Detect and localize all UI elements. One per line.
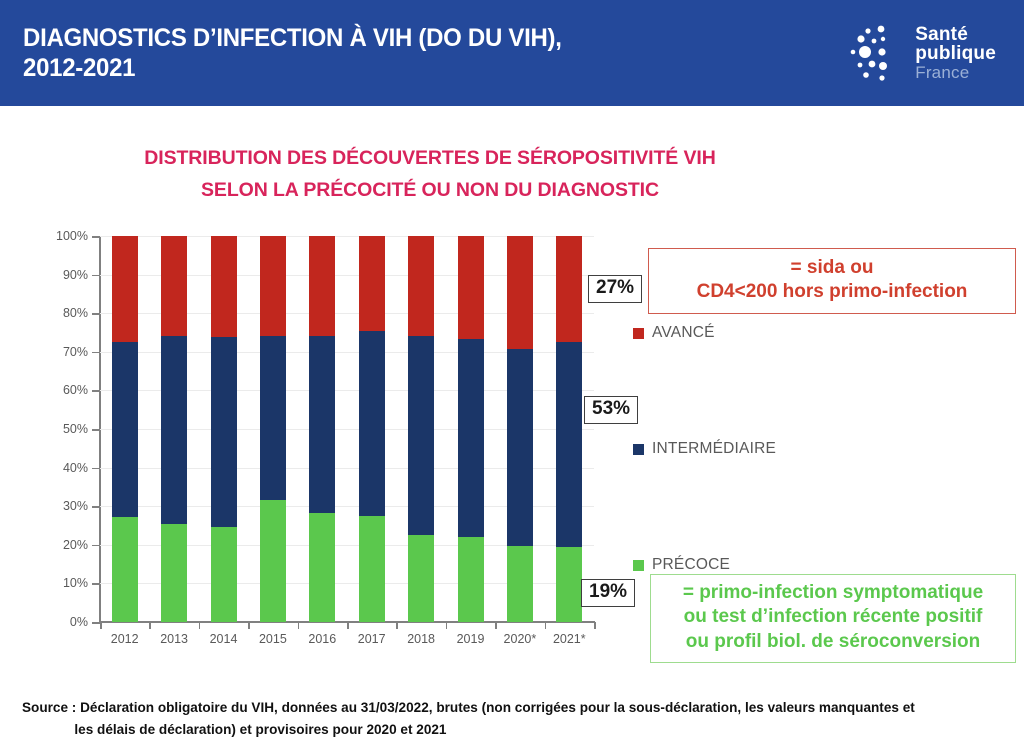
legend-swatch-precoce-icon	[633, 560, 644, 571]
callout-precoce: 19%	[581, 579, 635, 607]
y-axis-tick	[92, 352, 100, 354]
slide-root: DIAGNOSTICS D’INFECTION À VIH (DO DU VIH…	[0, 0, 1024, 754]
x-axis-tick	[248, 622, 250, 629]
bar-segment-precoce	[408, 535, 434, 622]
legend-label-intermediaire: INTERMÉDIAIRE	[652, 440, 776, 458]
bar-segment-interm	[408, 336, 434, 535]
stacked-bar	[408, 236, 434, 622]
bar-segment-avance	[112, 236, 138, 342]
stacked-bar	[507, 236, 533, 622]
y-axis-tick-label: 50%	[38, 422, 88, 436]
annotation-precoce-line-2: ou test d’infection récente positif	[657, 605, 1009, 629]
y-axis-tick	[92, 429, 100, 431]
x-axis-tick	[495, 622, 497, 629]
source-note: Source : Déclaration obligatoire du VIH,…	[22, 697, 982, 740]
x-axis-tick	[446, 622, 448, 629]
x-axis-tick	[396, 622, 398, 629]
y-axis-tick-label: 20%	[38, 538, 88, 552]
legend-swatch-intermediaire-icon	[633, 444, 644, 455]
bar-segment-interm	[458, 339, 484, 537]
y-axis-tick	[92, 583, 100, 585]
y-axis-tick-label: 30%	[38, 499, 88, 513]
y-axis-tick-label: 100%	[38, 229, 88, 243]
y-axis-tick	[92, 506, 100, 508]
bar-segment-precoce	[359, 516, 385, 622]
stacked-bar	[112, 236, 138, 622]
bar-segment-precoce	[458, 537, 484, 622]
y-axis-tick	[92, 390, 100, 392]
x-axis-tick	[594, 622, 596, 629]
y-axis-tick	[92, 545, 100, 547]
bar-segment-interm	[112, 342, 138, 516]
y-axis-tick-label: 90%	[38, 268, 88, 282]
bar-segment-interm	[556, 342, 582, 547]
callout-intermediaire: 53%	[584, 396, 638, 424]
annotation-avance-line-2: CD4<200 hors primo-infection	[655, 280, 1009, 304]
y-axis-tick	[92, 313, 100, 315]
bar-segment-precoce	[556, 547, 582, 622]
legend-item-intermediaire: INTERMÉDIAIRE	[633, 440, 776, 458]
x-axis-tick	[298, 622, 300, 629]
y-axis-tick-label: 40%	[38, 461, 88, 475]
bar-segment-avance	[161, 236, 187, 336]
annotation-avance: = sida ou CD4<200 hors primo-infection	[648, 248, 1016, 314]
legend-swatch-avance-icon	[633, 328, 644, 339]
x-axis-tick-label: 2021*	[539, 632, 599, 646]
stacked-bar	[211, 236, 237, 622]
legend-label-precoce: PRÉCOCE	[652, 556, 730, 574]
stacked-bar	[161, 236, 187, 622]
y-axis-tick	[92, 622, 100, 624]
bar-segment-interm	[161, 336, 187, 524]
bar-segment-avance	[260, 236, 286, 336]
x-axis-tick	[347, 622, 349, 629]
stacked-bar	[359, 236, 385, 622]
stacked-bar	[260, 236, 286, 622]
bar-segment-avance	[408, 236, 434, 336]
stacked-bar	[458, 236, 484, 622]
bar-segment-interm	[359, 331, 385, 516]
bar-segment-interm	[309, 336, 335, 514]
bar-segment-avance	[211, 236, 237, 337]
bar-segment-avance	[359, 236, 385, 331]
bar-segment-avance	[507, 236, 533, 349]
bar-segment-precoce	[260, 500, 286, 622]
bar-segment-avance	[458, 236, 484, 339]
x-axis-tick	[199, 622, 201, 629]
y-axis-tick-label: 70%	[38, 345, 88, 359]
y-axis-tick-label: 80%	[38, 306, 88, 320]
legend-item-precoce: PRÉCOCE	[633, 556, 730, 574]
bar-segment-interm	[211, 337, 237, 527]
annotation-avance-line-1: = sida ou	[655, 256, 1009, 280]
bar-segment-precoce	[112, 517, 138, 622]
annotation-precoce: = primo-infection symptomatique ou test …	[650, 574, 1016, 663]
legend-label-avance: AVANCÉ	[652, 324, 715, 342]
x-axis-tick	[149, 622, 151, 629]
bar-segment-precoce	[507, 546, 533, 622]
annotation-precoce-line-1: = primo-infection symptomatique	[657, 581, 1009, 605]
y-axis-tick-label: 10%	[38, 576, 88, 590]
bar-segment-precoce	[309, 513, 335, 622]
source-line-2: les délais de déclaration) et provisoire…	[22, 719, 982, 741]
y-axis-tick-label: 60%	[38, 383, 88, 397]
y-axis-tick	[92, 468, 100, 470]
callout-avance: 27%	[588, 275, 642, 303]
bar-segment-avance	[556, 236, 582, 342]
annotation-precoce-line-3: ou profil biol. de séroconversion	[657, 630, 1009, 654]
bar-segment-interm	[260, 336, 286, 500]
bar-segment-interm	[507, 349, 533, 546]
bar-segment-precoce	[161, 524, 187, 622]
y-axis-tick	[92, 275, 100, 277]
source-line-1: Source : Déclaration obligatoire du VIH,…	[22, 699, 915, 715]
x-axis-tick	[100, 622, 102, 629]
y-axis-tick	[92, 236, 100, 238]
bar-segment-avance	[309, 236, 335, 336]
legend-item-avance: AVANCÉ	[633, 324, 715, 342]
x-axis-tick	[545, 622, 547, 629]
stacked-bar	[556, 236, 582, 622]
stacked-bar	[309, 236, 335, 622]
y-axis-tick-label: 0%	[38, 615, 88, 629]
bar-segment-precoce	[211, 527, 237, 622]
